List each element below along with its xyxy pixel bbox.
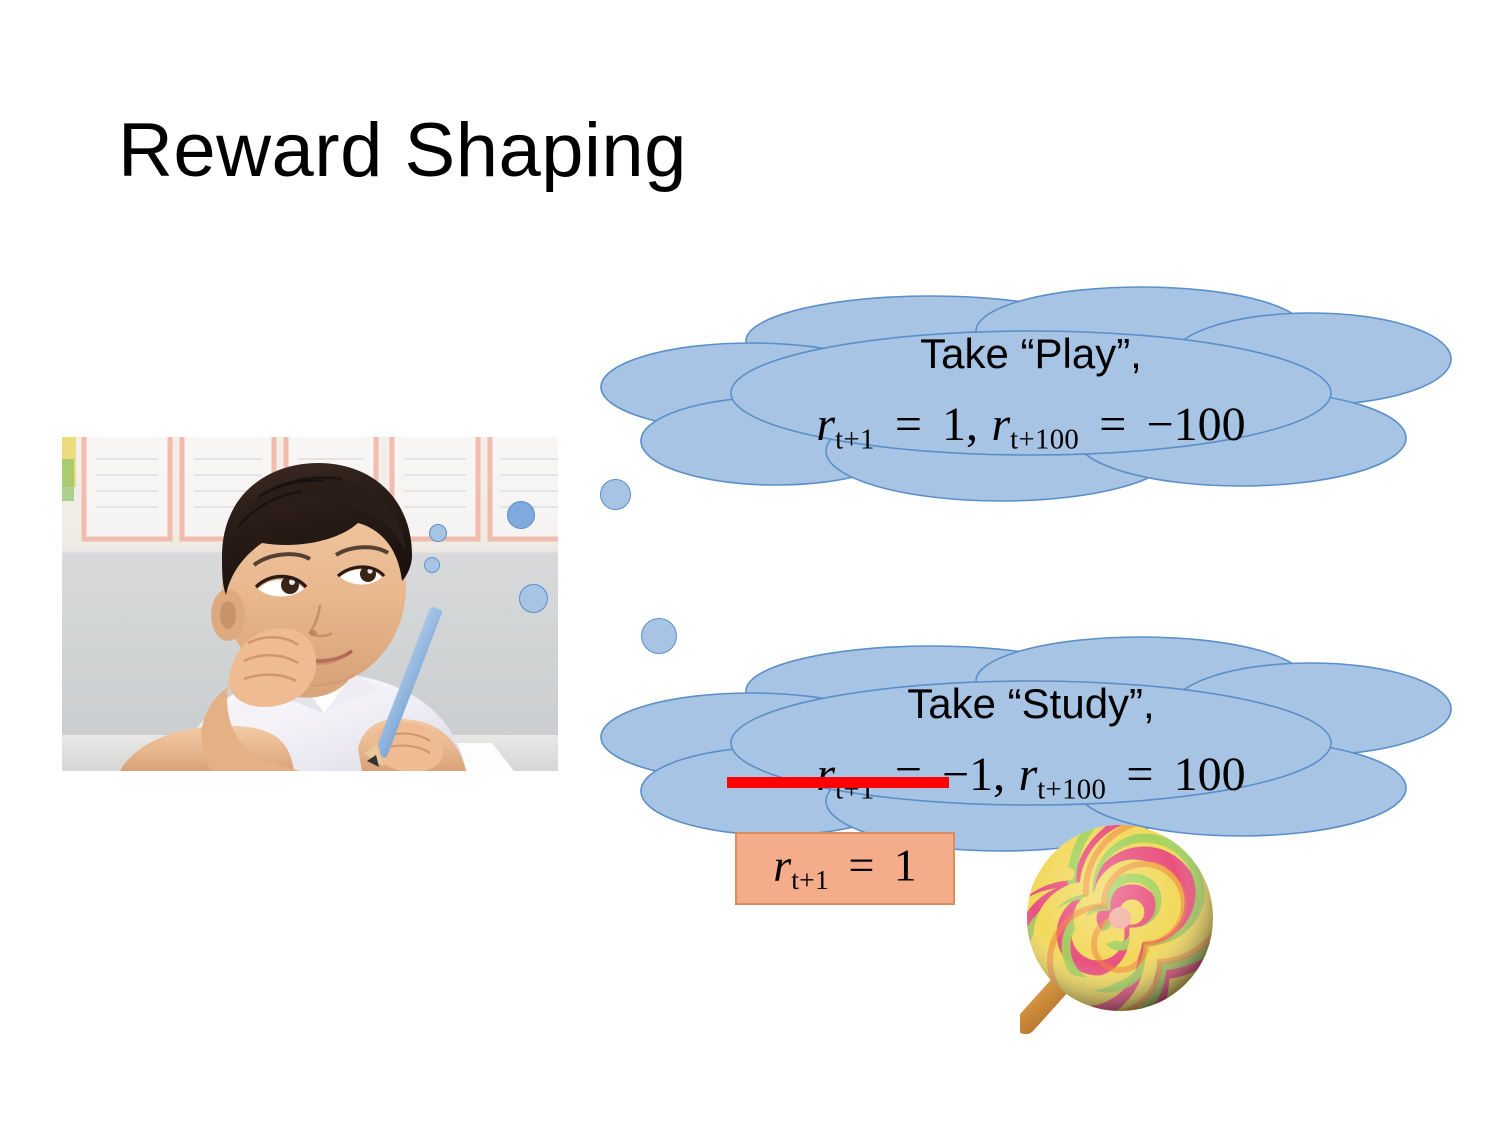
slide-canvas: Reward Shaping (0, 0, 1500, 1125)
page-title: Reward Shaping (118, 113, 687, 189)
reward-shaping-highlight-box: rt+1=1 (735, 832, 955, 905)
strikethrough-bar (727, 777, 949, 788)
thought-dot-medium-1 (507, 501, 535, 529)
formula-val-1: 1 (894, 839, 917, 890)
thought-dot-tiny-1 (429, 524, 447, 542)
formula-eq-1: = (848, 839, 874, 890)
thought-bubble-play: Take “Play”, rt+1=1,rt+100=−100 (601, 283, 1461, 513)
lollipop-image (1020, 818, 1290, 1088)
thought-dot-tiny-2 (424, 557, 440, 573)
highlight-box-formula: rt+1=1 (737, 840, 953, 895)
thought-dot-medium-2 (519, 584, 548, 613)
formula-var-r1: r (773, 839, 791, 890)
boy-thinking-photo (62, 437, 558, 771)
formula-sub-1: t+1 (791, 863, 829, 894)
